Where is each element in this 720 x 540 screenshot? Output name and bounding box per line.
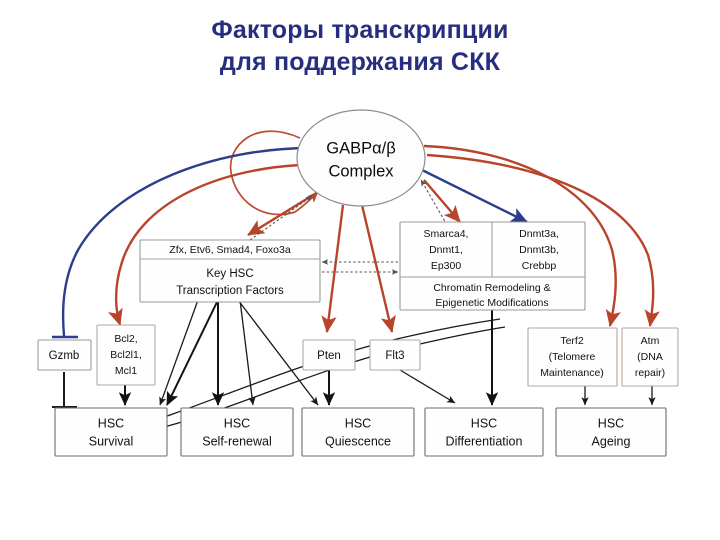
chromatin-footer-line2: Epigenetic Modifications (435, 297, 548, 309)
key-tf-line1: Key HSC (206, 268, 253, 280)
bcl2-line3: Mcl1 (115, 365, 137, 377)
outcome-ageing-line2: Ageing (592, 434, 631, 448)
gzmb-label: Gzmb (49, 350, 80, 362)
chromatin-right-line2: Dnmt3b, (519, 244, 559, 256)
outcome-selfrenewal-line1: HSC (224, 416, 250, 430)
node-flt3-box[interactable]: Flt3 (370, 340, 420, 370)
bcl2-line1: Bcl2, (114, 333, 137, 345)
outcome-differentiation-line1: HSC (471, 416, 497, 430)
atm-line1: Atm (641, 335, 660, 347)
node-terf2-box[interactable]: Terf2 (Telomere Maintenance) (528, 328, 617, 386)
node-outcome-ageing[interactable]: HSC Ageing (556, 408, 666, 456)
atm-line2: (DNA (637, 351, 663, 363)
node-atm-box[interactable]: Atm (DNA repair) (622, 328, 678, 386)
edge-flt3-to-differentiation (400, 370, 455, 403)
node-outcome-differentiation[interactable]: HSC Differentiation (425, 408, 543, 456)
chromatin-footer-line1: Chromatin Remodeling & (433, 282, 550, 294)
atm-line3: repair) (635, 367, 665, 379)
chromatin-left-line1: Smarca4, (424, 228, 469, 240)
edge-gabp-activates-pten (327, 205, 343, 332)
node-gabp-complex[interactable]: GABPα/β Complex (297, 110, 425, 206)
terf2-line1: Terf2 (560, 335, 584, 347)
terf2-line3: Maintenance) (540, 367, 604, 379)
pathway-diagram: GABPα/β Complex Zfx, Etv6, Smad4, Foxo3a… (0, 0, 720, 540)
outcome-selfrenewal-line2: Self-renewal (202, 434, 271, 448)
gabp-label-line1: GABPα/β (326, 139, 395, 157)
edge-gabp-to-chromatin-right (418, 168, 527, 222)
node-outcome-survival[interactable]: HSC Survival (55, 408, 167, 456)
outcome-quiescence-line2: Quiescence (325, 434, 391, 448)
flt3-label: Flt3 (385, 350, 404, 362)
terf2-line2: (Telomere (549, 351, 596, 363)
edge-gabp-activates-flt3 (362, 205, 392, 332)
edge-gabp-activates-keytf (248, 192, 318, 235)
key-tf-line2: Transcription Factors (176, 285, 284, 297)
node-key-tf-box[interactable]: Zfx, Etv6, Smad4, Foxo3a Key HSC Transcr… (140, 240, 320, 302)
node-pten-box[interactable]: Pten (303, 340, 355, 370)
outcome-quiescence-line1: HSC (345, 416, 371, 430)
node-outcome-self-renewal[interactable]: HSC Self-renewal (181, 408, 293, 456)
node-outcome-quiescence[interactable]: HSC Quiescence (302, 408, 414, 456)
key-tf-header: Zfx, Etv6, Smad4, Foxo3a (169, 244, 291, 256)
chromatin-right-line1: Dnmt3a, (519, 228, 559, 240)
chromatin-left-line3: Ep300 (431, 260, 462, 272)
outcome-survival-line1: HSC (98, 416, 124, 430)
outcome-ageing-line1: HSC (598, 416, 624, 430)
node-gzmb-box[interactable]: Gzmb (38, 340, 91, 370)
chromatin-right-line3: Crebbp (522, 260, 557, 272)
slide-canvas: Факторы транскрипции для поддержания СКК (0, 0, 720, 540)
node-chromatin-box[interactable]: Smarca4, Dnmt1, Ep300 Dnmt3a, Dnmt3b, Cr… (400, 222, 585, 310)
pten-label: Pten (317, 350, 341, 362)
gabp-label-line2: Complex (328, 162, 394, 180)
outcome-survival-line2: Survival (89, 434, 133, 448)
node-bcl2-box[interactable]: Bcl2, Bcl2l1, Mcl1 (97, 325, 155, 385)
edge-keytf-to-selfrenewal-2 (240, 300, 253, 405)
outcome-differentiation-line2: Differentiation (446, 434, 523, 448)
chromatin-left-line2: Dnmt1, (429, 244, 463, 256)
bcl2-line2: Bcl2l1, (110, 349, 142, 361)
